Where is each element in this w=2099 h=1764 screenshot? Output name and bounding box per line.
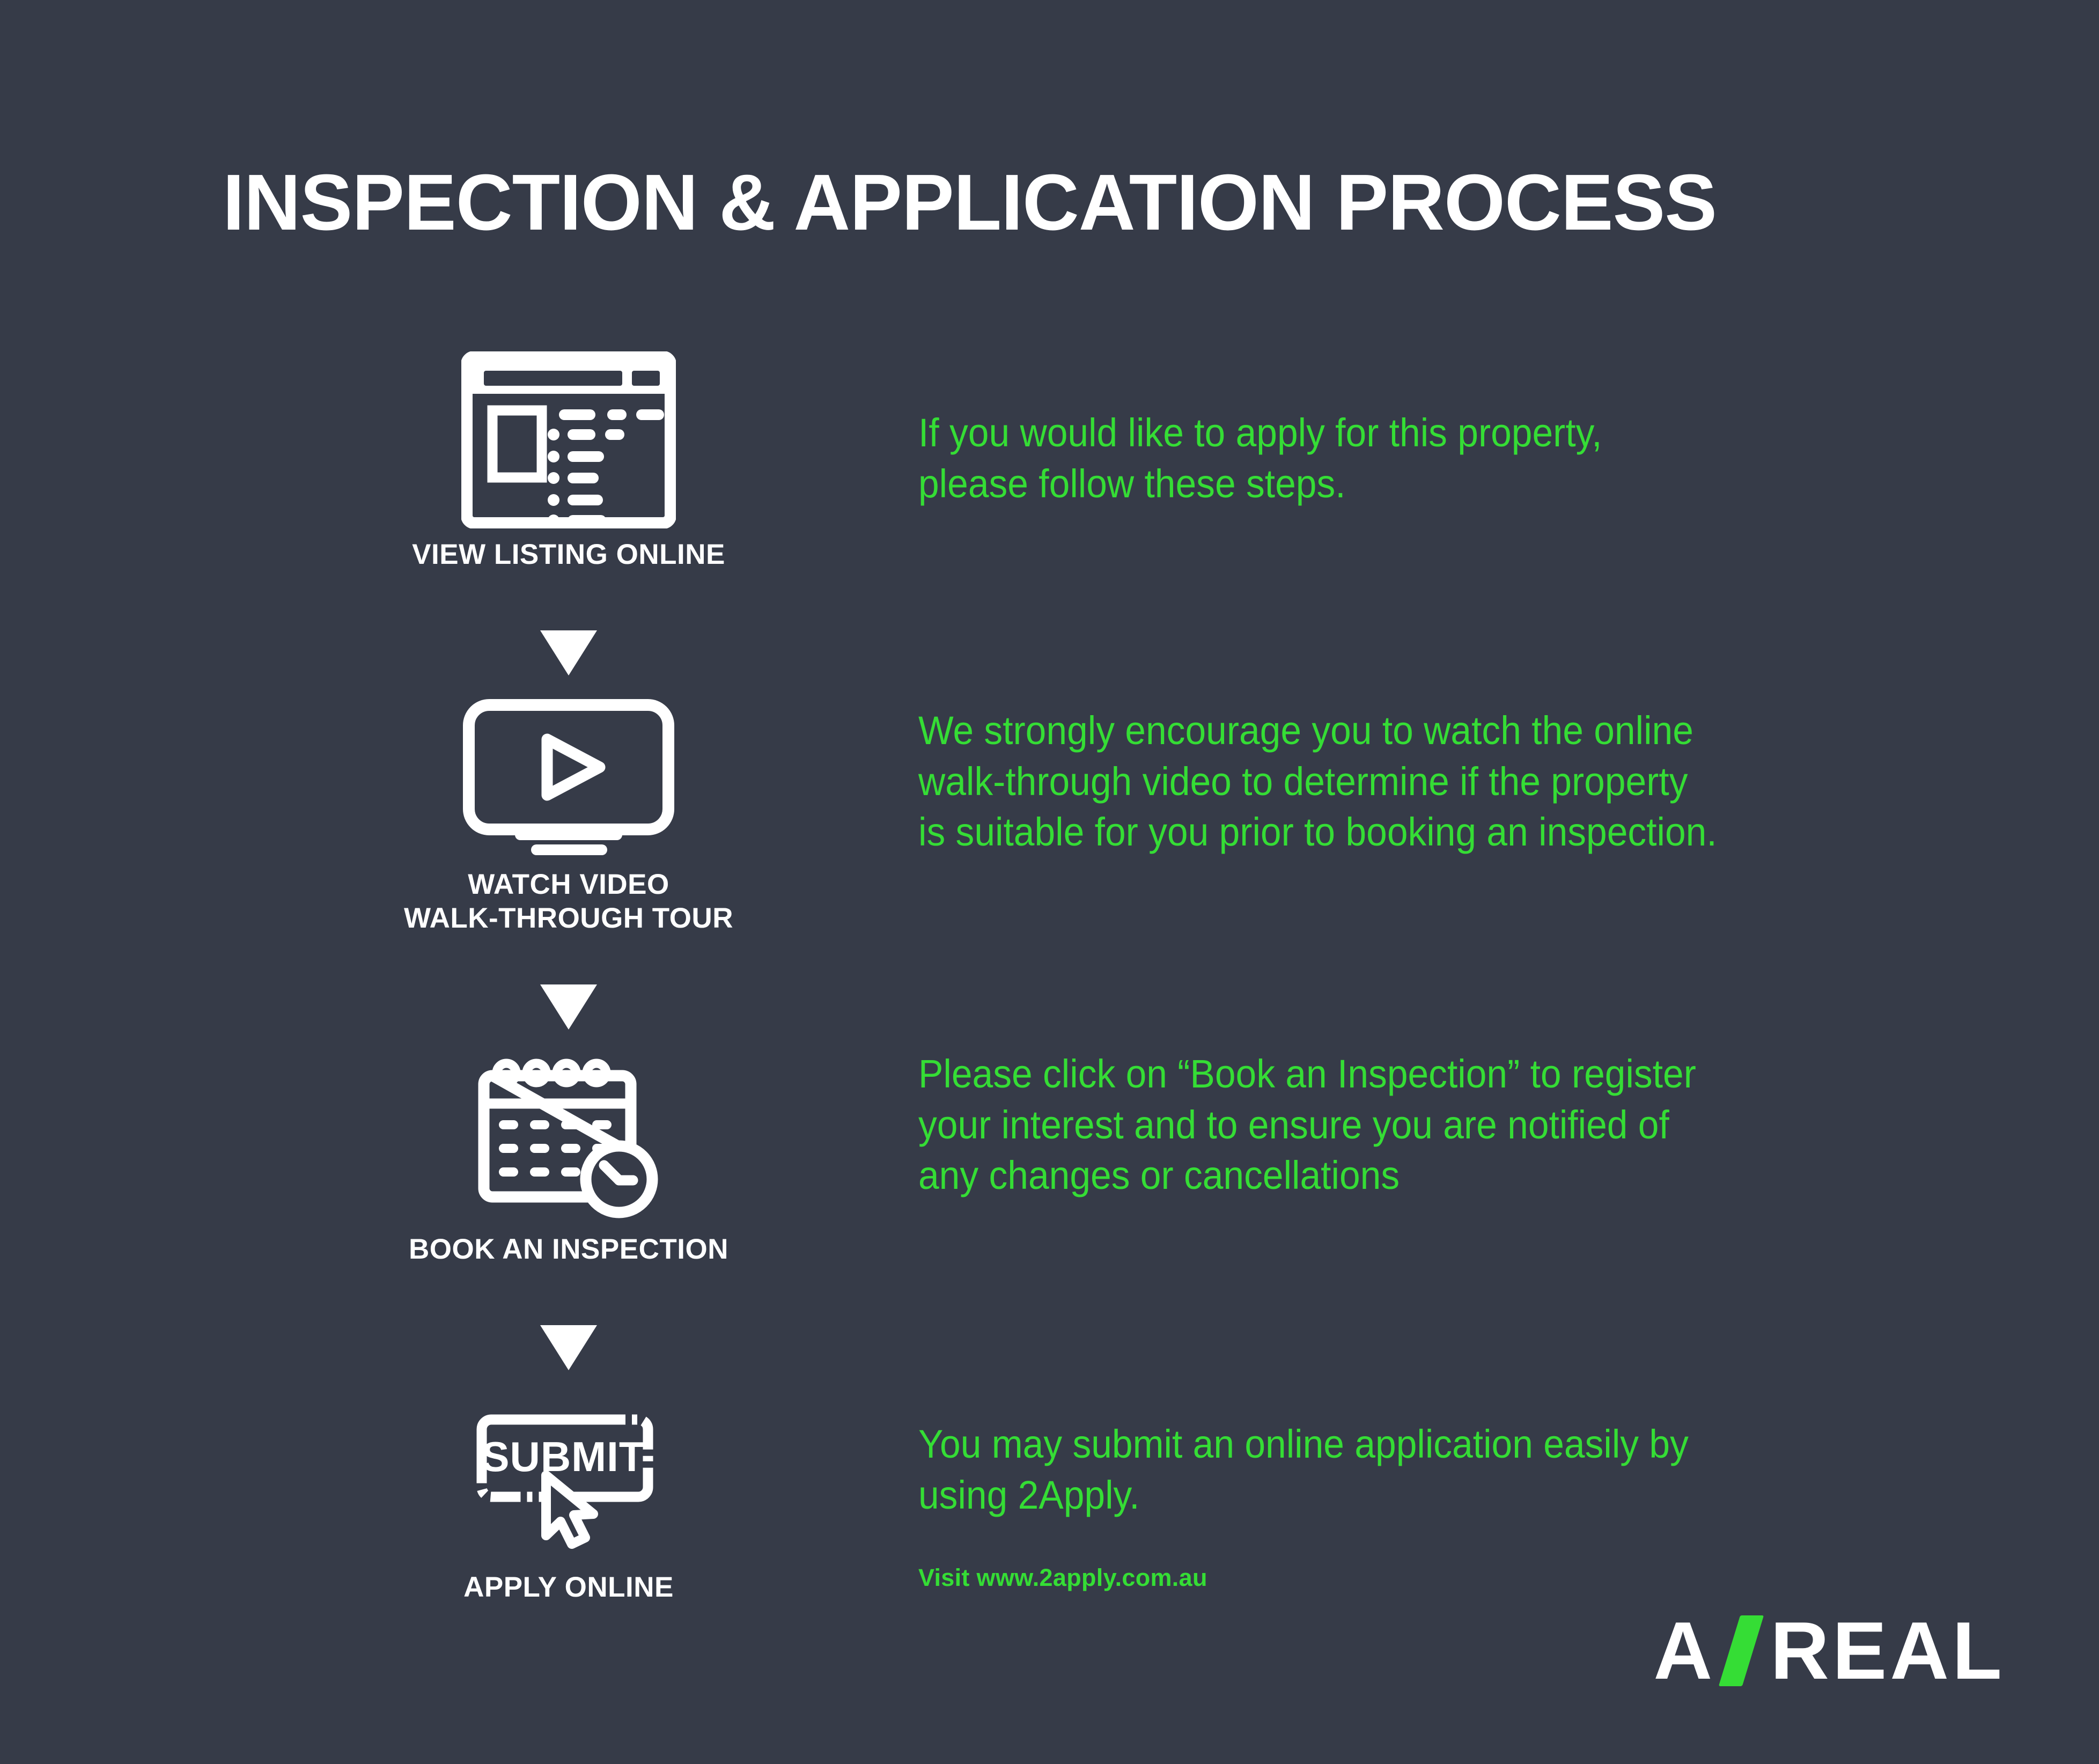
infographic-page: INSPECTION & APPLICATION PROCESS bbox=[0, 0, 2099, 1764]
submit-icon-label: SUBMIT bbox=[482, 1433, 645, 1480]
arrow-down-2 bbox=[354, 984, 783, 1032]
paragraph-watch-video: We strongly encourage you to watch the o… bbox=[918, 705, 1876, 858]
arrow-down-triangle-icon bbox=[540, 984, 597, 1030]
page-title: INSPECTION & APPLICATION PROCESS bbox=[223, 161, 1869, 244]
paragraph-book-inspection: Please click on “Book an Inspection” to … bbox=[918, 1049, 1876, 1201]
step-label: VIEW LISTING ONLINE bbox=[354, 538, 783, 572]
paragraph-apply-intro: If you would like to apply for this prop… bbox=[918, 408, 1876, 509]
visit-link[interactable]: Visit www.2apply.com.au bbox=[918, 1564, 1207, 1592]
step-watch-video: WATCH VIDEO WALK-THROUGH TOUR bbox=[354, 697, 783, 935]
listing-window-icon bbox=[461, 351, 676, 528]
arrow-down-triangle-icon bbox=[540, 630, 597, 675]
step-book-inspection: BOOK AN INSPECTION bbox=[354, 1052, 783, 1267]
arrow-down-triangle-icon bbox=[540, 1325, 597, 1370]
areal-logo: A REAL bbox=[1653, 1610, 2005, 1692]
step-label: BOOK AN INSPECTION bbox=[354, 1233, 783, 1267]
step-apply-online: SUBMIT APPLY ONLINE bbox=[354, 1400, 783, 1605]
step-label: APPLY ONLINE bbox=[354, 1571, 783, 1605]
arrow-down-3 bbox=[354, 1325, 783, 1373]
step-view-listing: VIEW LISTING ONLINE bbox=[354, 351, 783, 572]
submit-button-cursor-icon: SUBMIT bbox=[461, 1400, 676, 1561]
calendar-clock-icon bbox=[461, 1052, 676, 1223]
arrow-down-1 bbox=[354, 630, 783, 678]
logo-word-real: REAL bbox=[1770, 1610, 2005, 1692]
green-slash-icon bbox=[1719, 1615, 1764, 1686]
paragraph-apply-2apply: You may submit an online application eas… bbox=[918, 1419, 1876, 1520]
logo-letter-a: A bbox=[1653, 1610, 1715, 1692]
video-play-monitor-icon bbox=[461, 697, 676, 858]
step-label: WATCH VIDEO WALK-THROUGH TOUR bbox=[354, 868, 783, 935]
